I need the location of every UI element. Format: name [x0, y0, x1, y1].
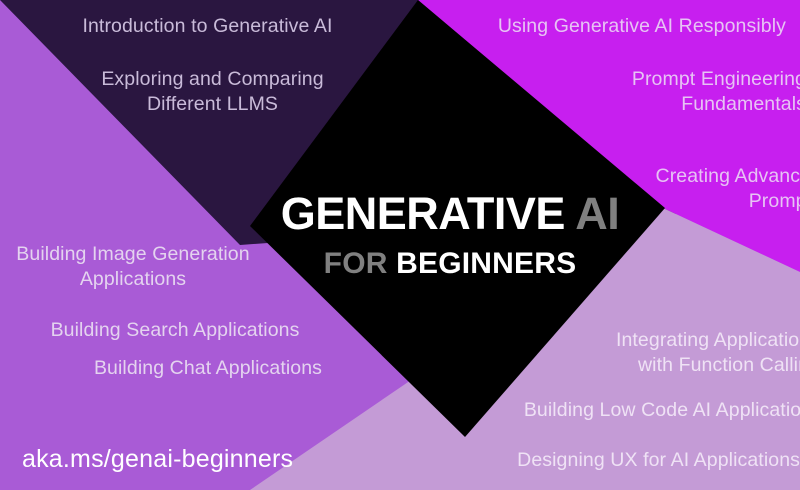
- topic-prompt-engineering-fundamentals: Prompt Engineering Fundamentals: [420, 67, 800, 117]
- topic-label: Introduction to Generative AI: [82, 15, 332, 37]
- topic-building-low-code-ai-applications: Building Low Code AI Applications: [440, 398, 800, 423]
- topic-label-line2: Different LLMS: [40, 92, 385, 117]
- topic-building-search-applications: Building Search Applications: [22, 318, 328, 343]
- topic-using-generative-ai-responsibly: Using Generative AI Responsibly: [400, 14, 786, 39]
- topic-label-line1: Creating Advanced: [500, 164, 800, 189]
- topic-label-line2: Prompts: [500, 189, 800, 214]
- topic-creating-advanced-prompts: Creating Advanced Prompts: [500, 164, 800, 214]
- aka-ms-link[interactable]: aka.ms/genai-beginners: [22, 445, 293, 474]
- topic-label: Building Chat Applications: [94, 357, 322, 379]
- topic-label: Building Low Code AI Applications: [524, 399, 800, 421]
- topic-label: Using Generative AI Responsibly: [498, 15, 786, 37]
- topic-exploring-and-comparing-llms: Exploring and Comparing Different LLMS: [40, 67, 385, 117]
- course-cover-banner: Introduction to Generative AI Exploring …: [0, 0, 800, 490]
- topic-label-line2: with Function Calling: [460, 353, 800, 378]
- topic-label-line1: Integrating Applications: [460, 328, 800, 353]
- topic-label-line1: Exploring and Comparing: [40, 67, 385, 92]
- topic-label: Building Search Applications: [51, 319, 300, 341]
- topic-label: Designing UX for AI Applications: [517, 449, 800, 471]
- topic-label-line2: Fundamentals: [420, 92, 800, 117]
- topic-designing-ux-for-ai-applications: Designing UX for AI Applications: [440, 448, 800, 473]
- topic-label-line1: Building Image Generation: [0, 242, 278, 267]
- topic-label-line2: Applications: [0, 267, 278, 292]
- topic-label-line1: Prompt Engineering: [420, 67, 800, 92]
- topic-introduction-to-generative-ai: Introduction to Generative AI: [30, 14, 385, 39]
- topic-integrating-applications-with-function-calling: Integrating Applications with Function C…: [460, 328, 800, 378]
- topic-building-image-generation-applications: Building Image Generation Applications: [0, 242, 278, 292]
- topic-building-chat-applications: Building Chat Applications: [62, 356, 354, 381]
